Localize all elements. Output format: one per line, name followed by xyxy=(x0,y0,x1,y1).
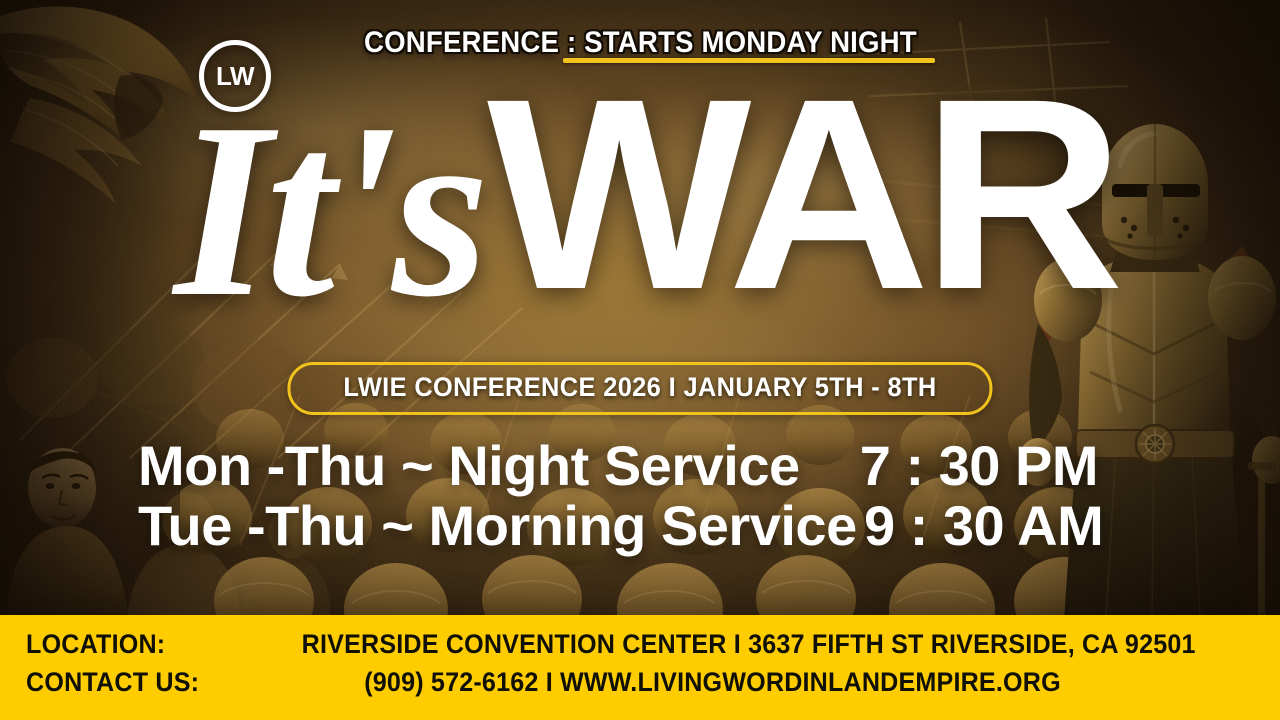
title-block-word: WAR xyxy=(487,72,1116,317)
schedule-description: Mon -Thu ~ Night Service xyxy=(138,437,778,495)
conference-flyer: LW CONFERENCE : STARTS MONDAY NIGHT It's… xyxy=(0,0,1280,720)
footer-location-row: LOCATION: RIVERSIDE CONVENTION CENTER I … xyxy=(0,629,1280,667)
schedule-row-night: Mon -Thu ~ Night Service 7 : 30 PM xyxy=(138,437,1098,495)
title-script-word: It's xyxy=(174,88,484,333)
service-schedule: Mon -Thu ~ Night Service 7 : 30 PM Tue -… xyxy=(138,437,1098,557)
footer-bar: LOCATION: RIVERSIDE CONVENTION CENTER I … xyxy=(0,615,1280,720)
footer-location-label: LOCATION: xyxy=(0,629,233,660)
flyer-content: LW CONFERENCE : STARTS MONDAY NIGHT It's… xyxy=(0,0,1280,720)
schedule-description: Tue -Thu ~ Morning Service xyxy=(138,497,838,555)
footer-location-value: RIVERSIDE CONVENTION CENTER I 3637 FIFTH… xyxy=(302,629,1196,660)
schedule-row-morning: Tue -Thu ~ Morning Service 9 : 30 AM xyxy=(138,497,1098,555)
schedule-time: 7 : 30 PM xyxy=(834,437,1098,495)
conference-date-pill: LWIE CONFERENCE 2026 I JANUARY 5TH - 8TH xyxy=(287,362,992,415)
conference-date-text: LWIE CONFERENCE 2026 I JANUARY 5TH - 8TH xyxy=(343,372,936,403)
schedule-time: 9 : 30 AM xyxy=(838,497,1103,555)
footer-contact-label: CONTACT US: xyxy=(0,667,233,698)
footer-contact-row: CONTACT US: (909) 572-6162 I WWW.LIVINGW… xyxy=(0,667,1280,705)
page-title: It's WAR xyxy=(0,72,1280,334)
footer-contact-value[interactable]: (909) 572-6162 I WWW.LIVINGWORDINLANDEMP… xyxy=(364,667,1061,698)
